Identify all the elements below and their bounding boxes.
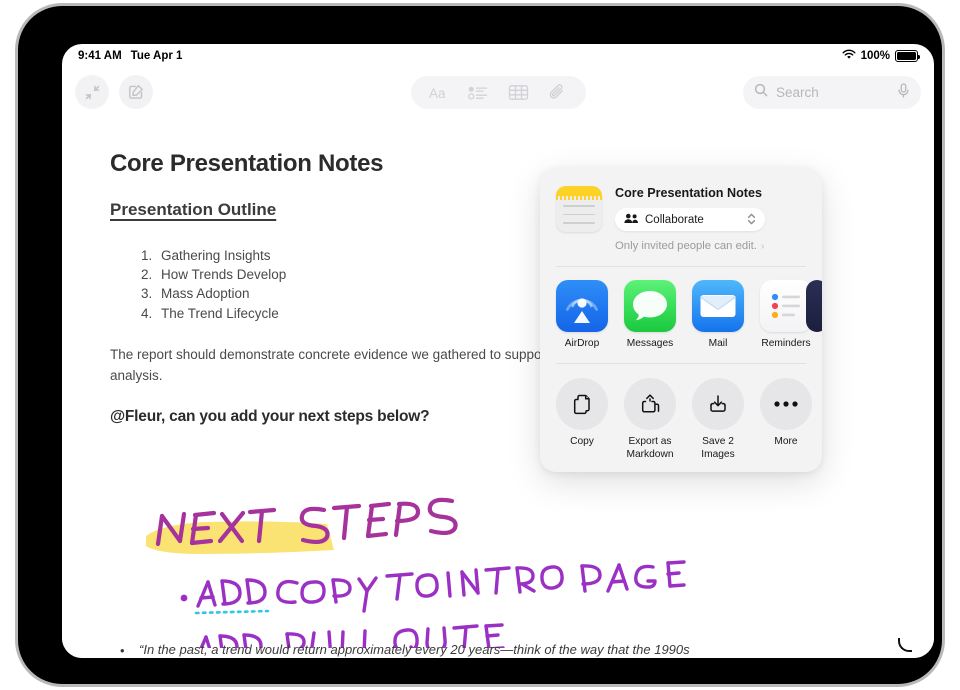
- cursor-pointer: [898, 638, 912, 652]
- action-save-images[interactable]: Save 2 Images: [692, 378, 744, 461]
- table-icon[interactable]: [504, 82, 532, 104]
- format-text-icon[interactable]: Aa: [426, 82, 454, 104]
- status-date: Tue Apr 1: [131, 50, 183, 62]
- people-group-icon: [624, 211, 639, 229]
- handwriting-bullet: [181, 595, 188, 602]
- action-label: More: [760, 436, 812, 449]
- share-app-messages[interactable]: Messages: [624, 280, 676, 349]
- share-sheet[interactable]: Core Presentation Notes Collaborate: [540, 168, 822, 472]
- notes-document-icon: [556, 186, 602, 232]
- quote-bullet: •: [120, 641, 125, 658]
- microphone-icon[interactable]: [897, 83, 910, 103]
- battery-icon: [895, 50, 918, 62]
- permission-note[interactable]: Only invited people can edit. ›: [615, 240, 806, 252]
- mention-line: @Fleur, can you add your next steps belo…: [110, 408, 429, 426]
- reminders-list-icon: [760, 280, 812, 332]
- copy-documents-icon: [556, 378, 608, 430]
- list-item: Mass Adoption: [156, 284, 286, 303]
- notes-toolbar: Aa: [62, 68, 934, 118]
- handwriting-line-1: [198, 562, 684, 611]
- dotted-underline: [196, 611, 268, 613]
- share-app-reminders[interactable]: Reminders: [760, 280, 812, 349]
- status-bar: 9:41 AM Tue Apr 1 100%: [62, 44, 934, 68]
- app-label: Mail: [692, 338, 744, 349]
- download-save-icon: [692, 378, 744, 430]
- action-more[interactable]: More: [760, 378, 812, 461]
- app-label: AirDrop: [556, 338, 608, 349]
- quote-block: • “In the past, a trend would return app…: [110, 640, 720, 658]
- chevron-up-down-icon: [747, 212, 756, 227]
- format-toolbar: Aa: [411, 76, 586, 109]
- app-label: Messages: [624, 338, 676, 349]
- wifi-icon: [842, 49, 856, 63]
- action-copy[interactable]: Copy: [556, 378, 608, 461]
- checklist-icon[interactable]: [465, 82, 493, 104]
- action-export-markdown[interactable]: Export as Markdown: [624, 378, 676, 461]
- list-item: The Trend Lifecycle: [156, 304, 286, 323]
- screen: 9:41 AM Tue Apr 1 100%: [62, 44, 934, 658]
- attachment-paperclip-icon[interactable]: [543, 82, 571, 104]
- action-label: Save 2 Images: [692, 436, 744, 461]
- search-field[interactable]: Search: [743, 76, 921, 109]
- share-sheet-title: Core Presentation Notes: [615, 186, 806, 200]
- compose-pencil-icon[interactable]: [119, 75, 153, 109]
- chevron-right-icon: ›: [761, 241, 764, 252]
- partial-app-icon[interactable]: [806, 280, 822, 332]
- note-document[interactable]: Core Presentation Notes Presentation Out…: [62, 118, 934, 658]
- action-label: Export as Markdown: [624, 436, 676, 461]
- ellipsis-more-icon: [760, 378, 812, 430]
- collaborate-dropdown[interactable]: Collaborate: [615, 208, 765, 231]
- battery-percent: 100%: [861, 50, 890, 62]
- share-sheet-header: Core Presentation Notes Collaborate: [540, 168, 822, 252]
- collaborate-label: Collaborate: [645, 214, 704, 226]
- mail-envelope-icon: [692, 280, 744, 332]
- search-icon: [754, 83, 768, 102]
- share-apps-row: AirDrop Messages: [540, 267, 822, 349]
- share-actions-row: Copy Export as Markdown: [540, 364, 822, 461]
- action-label: Copy: [556, 436, 608, 449]
- export-share-icon: [624, 378, 676, 430]
- status-time: 9:41 AM: [78, 50, 122, 62]
- outline-list: Gathering Insights How Trends Develop Ma…: [138, 246, 286, 323]
- list-item: How Trends Develop: [156, 265, 286, 284]
- airdrop-icon: [556, 280, 608, 332]
- messages-bubble-icon: [624, 280, 676, 332]
- share-app-mail[interactable]: Mail: [692, 280, 744, 349]
- handwriting-annotation: [62, 448, 934, 648]
- list-item: Gathering Insights: [156, 246, 286, 265]
- svg-text:Aa: Aa: [429, 86, 446, 101]
- search-placeholder: Search: [776, 85, 819, 100]
- quote-text: “In the past, a trend would return appro…: [110, 640, 720, 658]
- app-label: Reminders: [760, 338, 812, 349]
- page-title: Core Presentation Notes: [110, 150, 383, 178]
- device-frame: 9:41 AM Tue Apr 1 100%: [18, 6, 942, 684]
- section-heading: Presentation Outline: [110, 200, 276, 220]
- permission-text: Only invited people can edit.: [615, 240, 757, 252]
- share-app-airdrop[interactable]: AirDrop: [556, 280, 608, 349]
- collapse-arrows-icon[interactable]: [75, 75, 109, 109]
